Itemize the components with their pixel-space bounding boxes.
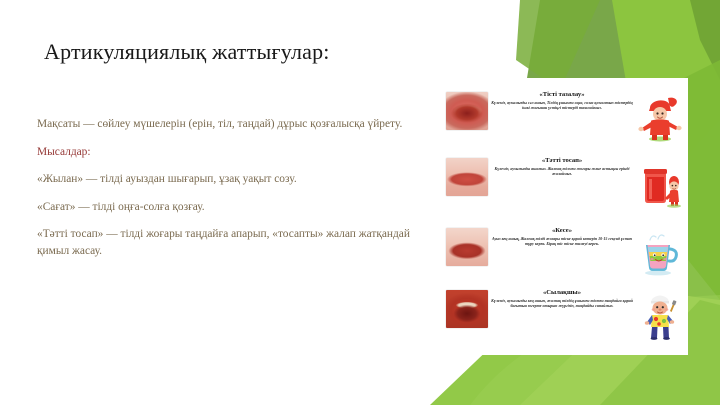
page-title: Артикуляциялық жаттығулар: xyxy=(44,38,444,66)
articulation-exercises-poster: «Тісті тазалау» Күлеміз, аузымызды сәл а… xyxy=(437,78,688,355)
smiling-teacup-icon xyxy=(636,228,684,278)
paragraph-goal: Мақсаты — сөйлеу мүшелерін (ерін, тіл, т… xyxy=(37,116,429,133)
jam-jar-icon xyxy=(636,158,684,208)
poster-row-text: «Тәтті тосап» Күлеміз, аузымызды ашамыз.… xyxy=(488,156,636,177)
poster-row-title: «Тәтті тосап» xyxy=(491,156,633,165)
mouth-photo-tongue-licking-lips xyxy=(446,158,488,196)
paragraph-example-clock: «Сағат» — тілді оңға-солға қозғау. xyxy=(37,199,429,216)
paragraph-example-jam: «Тәтті тосап» — тілді жоғары таңдайға ап… xyxy=(37,226,429,259)
poster-row-plasterer: «Сылақшы» Күлеміз, аузымызды кең ашып, ж… xyxy=(437,290,688,340)
poster-row-text: «Тісті тазалау» Күлеміз, аузымызды сәл а… xyxy=(488,90,636,111)
paragraph-examples-heading: Мысалдар: xyxy=(37,144,429,161)
mouth-photo-cup-shaped-tongue xyxy=(446,228,488,266)
poster-row-text: «Сылақшы» Күлеміз, аузымызды кең ашып, ж… xyxy=(488,288,636,309)
mouth-photo-tongue-sweeping-teeth xyxy=(446,92,488,130)
poster-row-title: «Тісті тазалау» xyxy=(491,90,633,99)
poster-row-title: «Кесе» xyxy=(491,226,633,235)
poster-row-cup: «Кесе» Ауыз кең ашық, Жалпақ тілді жоғар… xyxy=(437,228,688,278)
poster-row-sweet-jam: «Тәтті тосап» Күлеміз, аузымызды ашамыз.… xyxy=(437,158,688,208)
body-text-column: Мақсаты — сөйлеу мүшелерін (ерін, тіл, т… xyxy=(37,116,429,259)
red-gnome-icon xyxy=(636,92,684,142)
mouth-photo-wide-open-tongue xyxy=(446,290,488,328)
presentation-slide: Артикуляциялық жаттығулар: Мақсаты — сөй… xyxy=(0,0,720,405)
poster-row-body: Ауыз кең ашық, Жалпақ тілді жоғары тіске… xyxy=(491,236,633,247)
painter-character-with-brush xyxy=(636,290,684,340)
poster-row-body: Күлеміз, аузымызды кең ашып, жалпақ тілд… xyxy=(491,298,633,309)
poster-row-body: Күлеміз, аузымызды сәл ашып, Тілдің ұшым… xyxy=(491,100,633,111)
jam-jar-with-character xyxy=(636,158,684,208)
paragraph-example-snake: «Жылан» — тілді ауыздан шығарып, ұзақ уа… xyxy=(37,171,429,188)
smiling-teacup xyxy=(636,228,684,278)
painter-character-icon xyxy=(636,290,684,340)
poster-row-title: «Сылақшы» xyxy=(491,288,633,297)
poster-row-text: «Кесе» Ауыз кең ашық, Жалпақ тілді жоғар… xyxy=(488,226,636,247)
poster-row-body: Күлеміз, аузымызды ашамыз. Жалпақ тілмен… xyxy=(491,166,633,177)
red-gnome-character xyxy=(636,92,684,142)
poster-row-teeth-cleaning: «Тісті тазалау» Күлеміз, аузымызды сәл а… xyxy=(437,92,688,142)
